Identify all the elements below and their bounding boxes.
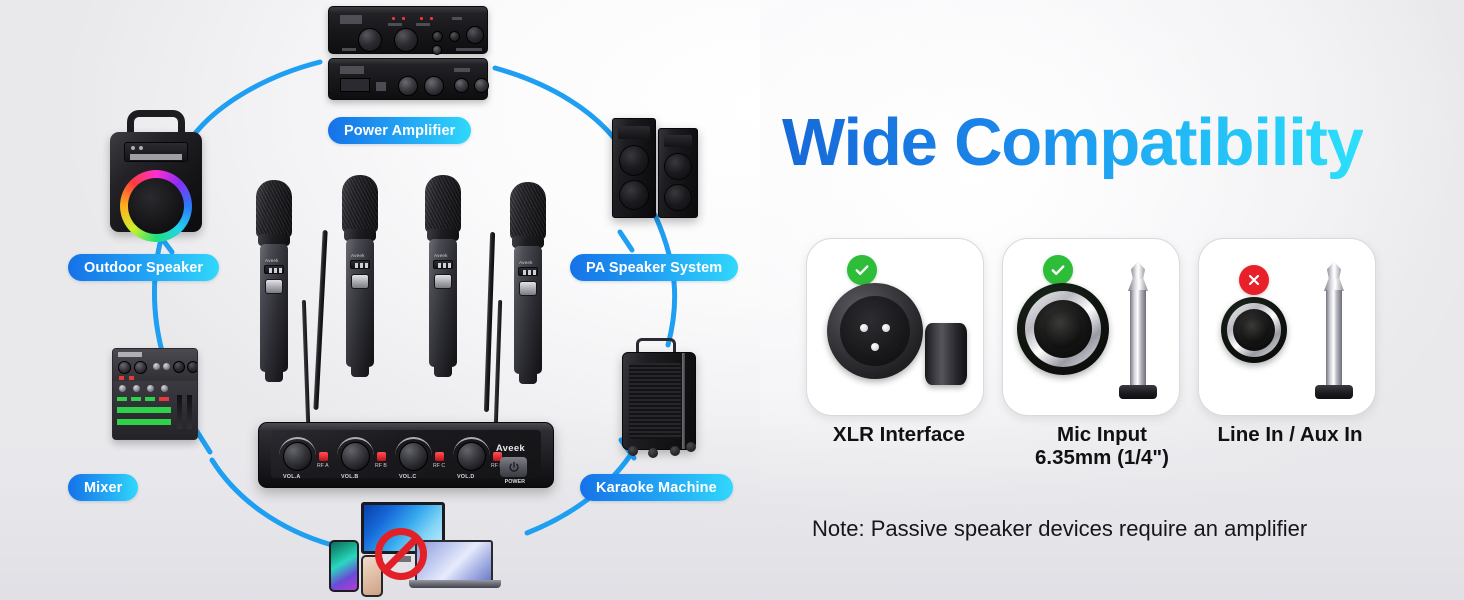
mic-brand-label: Aveek (351, 253, 365, 258)
no-entry-icon (375, 528, 427, 580)
mic-brand-label: Aveek (519, 260, 533, 265)
xlr-connector-graphic (827, 283, 923, 379)
quarter-inch-plug-graphic (1311, 261, 1357, 401)
tablet-device (329, 540, 359, 592)
power-icon (508, 461, 520, 473)
power-button[interactable] (500, 457, 527, 477)
label-pa-speaker-system-text: PA Speaker System (586, 260, 722, 276)
outdoor-speaker-device (110, 110, 202, 240)
receiver-rf-label-c: RF C (433, 463, 445, 469)
receiver-rf-label-b: RF B (375, 463, 387, 469)
caption-xlr: XLR Interface (784, 424, 1014, 447)
line-in-socket-graphic (1221, 297, 1287, 363)
receiver-volume-label-d: VOL.D (457, 474, 474, 480)
note-text: Note: Passive speaker devices require an… (812, 516, 1307, 542)
mic-brand-label: Aveek (265, 258, 279, 263)
pa-speaker-left (612, 118, 656, 218)
tick-pa (620, 232, 632, 250)
label-outdoor-speaker-text: Outdoor Speaker (84, 260, 203, 276)
compat-card-line-in[interactable] (1198, 238, 1376, 416)
pa-speaker-right (658, 128, 698, 218)
caption-line-in: Line In / Aux In (1175, 424, 1405, 447)
receiver-rf-label-a: RF A (317, 463, 329, 469)
laptop-base (409, 580, 501, 588)
mixer-device (112, 348, 198, 440)
microphone-4: Aveek (510, 182, 546, 392)
compat-card-mic-input[interactable] (1002, 238, 1180, 416)
tick-mixer (196, 430, 210, 452)
arc-outdoor-to-amp (190, 62, 320, 140)
label-pa-speaker-system[interactable]: PA Speaker System (570, 254, 738, 281)
check-circle-icon (847, 255, 877, 285)
power-button-label: POWER (505, 479, 525, 485)
arc-amp-to-pa (495, 68, 620, 146)
receiver-volume-label-c: VOL.C (399, 474, 416, 480)
incompatible-devices-group (325, 500, 525, 600)
xlr-cap-graphic (925, 323, 967, 385)
wireless-receiver: VOL.A RF A VOL.B RF B VOL.C RF C VOL.D (258, 412, 554, 492)
label-mixer[interactable]: Mixer (68, 474, 138, 501)
quarter-inch-plug-graphic (1115, 261, 1161, 401)
label-karaoke-machine[interactable]: Karaoke Machine (580, 474, 733, 501)
mic-input-socket-graphic (1017, 283, 1109, 375)
compatibility-cards (806, 238, 1366, 428)
label-power-amplifier[interactable]: Power Amplifier (328, 117, 471, 144)
microphone-1: Aveek (256, 180, 292, 390)
compat-card-xlr[interactable] (806, 238, 984, 416)
x-circle-icon (1239, 265, 1269, 295)
mic-brand-label: Aveek (434, 253, 448, 258)
microphone-2: Aveek (342, 175, 378, 385)
receiver-volume-label-b: VOL.B (341, 474, 358, 480)
label-karaoke-machine-text: Karaoke Machine (596, 480, 717, 496)
receiver-brand: Aveek (496, 443, 525, 454)
receiver-volume-label-a: VOL.A (283, 474, 300, 480)
infographic-page: Aveek Aveek Aveek Aveek (0, 0, 1464, 600)
laptop-screen (415, 540, 493, 582)
check-circle-icon (1043, 255, 1073, 285)
label-mixer-text: Mixer (84, 480, 122, 496)
microphone-3: Aveek (425, 175, 461, 385)
label-outdoor-speaker[interactable]: Outdoor Speaker (68, 254, 219, 281)
power-amplifier-rear (328, 58, 488, 100)
caption-mic-input-line2: 6.35mm (1/4") (987, 447, 1217, 470)
karaoke-machine-device (614, 338, 710, 458)
page-title: Wide Compatibility (782, 104, 1363, 181)
power-amplifier-front (328, 6, 488, 54)
label-power-amplifier-text: Power Amplifier (344, 123, 455, 139)
